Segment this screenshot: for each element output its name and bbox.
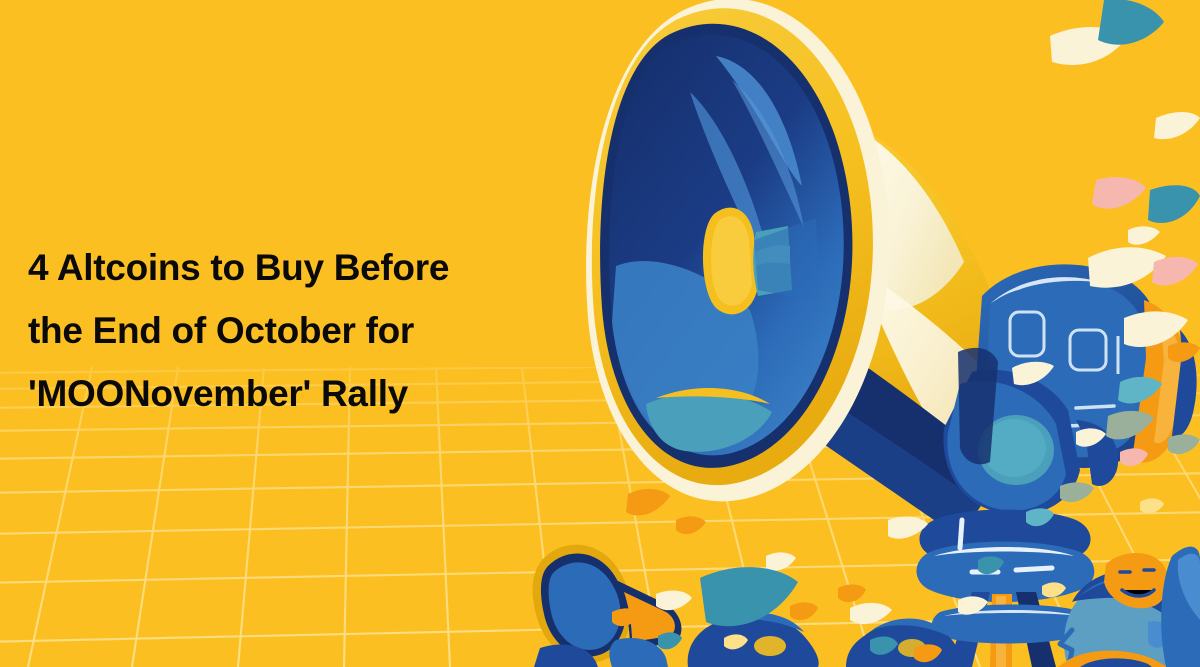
page-title: 4 Altcoins to Buy Before the End of Octo… xyxy=(28,236,588,425)
tripod-collar xyxy=(917,510,1095,603)
article-hero-banner: 4 Altcoins to Buy Before the End of Octo… xyxy=(0,0,1200,667)
megaphone-illustration xyxy=(520,0,1200,667)
